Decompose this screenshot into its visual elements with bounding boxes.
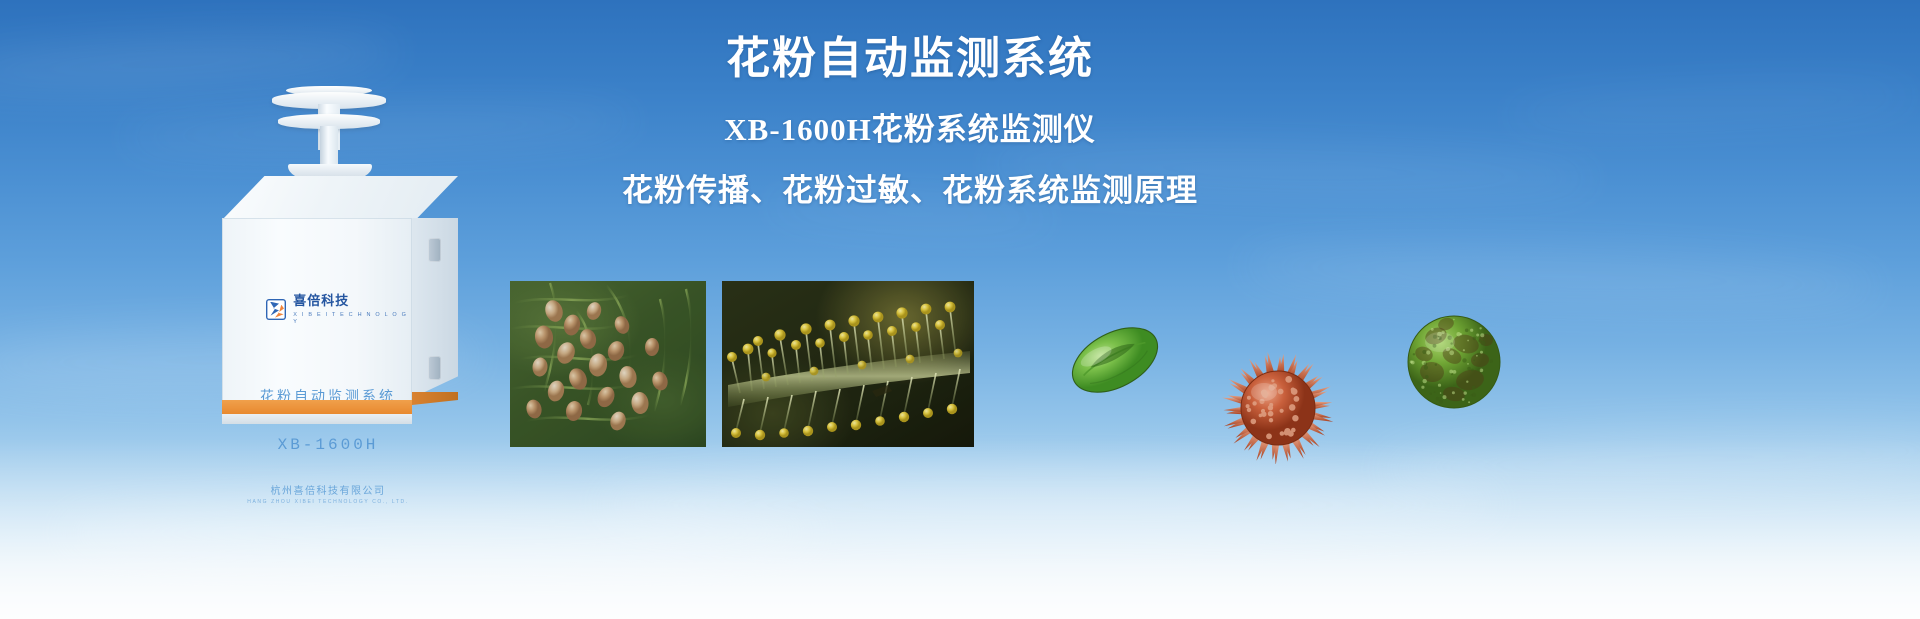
device-brand-logo: 喜倍科技 X I B E I T E C H N O L O G Y	[266, 292, 412, 326]
horizon-haze	[0, 439, 1920, 619]
photo-cedar-foliage	[510, 281, 706, 447]
pollen-grain-reticulate-rough	[1402, 310, 1506, 414]
pollen-grain-echinate-spiky	[1222, 352, 1334, 464]
device-base-accent-strip	[222, 400, 412, 414]
device-model-number: XB-1600H	[222, 436, 434, 454]
pollen-monitoring-banner: 花粉自动监测系统 XB-1600H花粉系统监测仪 花粉传播、花粉过敏、花粉系统监…	[0, 0, 1920, 619]
banner-tagline: 花粉传播、花粉过敏、花粉系统监测原理	[600, 172, 1220, 209]
device-latch-upper	[428, 238, 441, 262]
device-latch-lower	[428, 356, 441, 380]
pollen-monitor-device: 喜倍科技 X I B E I T E C H N O L O G Y 花粉自动监…	[200, 80, 480, 430]
device-top-panel	[222, 176, 458, 220]
banner-title: 花粉自动监测系统	[600, 34, 1220, 85]
cloud-wisp	[1239, 239, 1880, 313]
device-brand-en: X I B E I T E C H N O L O G Y	[293, 312, 412, 326]
photo-catkin-spike	[722, 281, 974, 447]
device-base-foot	[222, 414, 412, 424]
device-brand-cn: 喜倍科技	[293, 293, 349, 308]
device-brand-text: 喜倍科技 X I B E I T E C H N O L O G Y	[293, 292, 412, 326]
cloud-wisp	[60, 500, 820, 566]
device-base-accent-strip-side	[412, 392, 458, 405]
photo-catkin-anthers	[722, 281, 974, 447]
banner-subtitle: XB-1600H花粉系统监测仪	[600, 111, 1220, 148]
pollen-grain-green-smooth	[1060, 315, 1170, 405]
device-company-en: HANG ZHOU XIBEI TECHNOLOGY CO., LTD.	[222, 499, 434, 505]
device-company-cn: 杭州喜倍科技有限公司	[222, 482, 434, 497]
cloud-wisp	[1500, 79, 1920, 131]
photo-cedar-pollen-cones	[510, 281, 706, 447]
banner-heading-block: 花粉自动监测系统 XB-1600H花粉系统监测仪 花粉传播、花粉过敏、花粉系统监…	[600, 34, 1220, 209]
device-front-panel: 喜倍科技 X I B E I T E C H N O L O G Y 花粉自动监…	[222, 218, 412, 418]
cloud-wisp	[1379, 419, 1920, 499]
cloud-wisp	[600, 470, 1500, 540]
xibei-logo-icon	[266, 299, 286, 320]
